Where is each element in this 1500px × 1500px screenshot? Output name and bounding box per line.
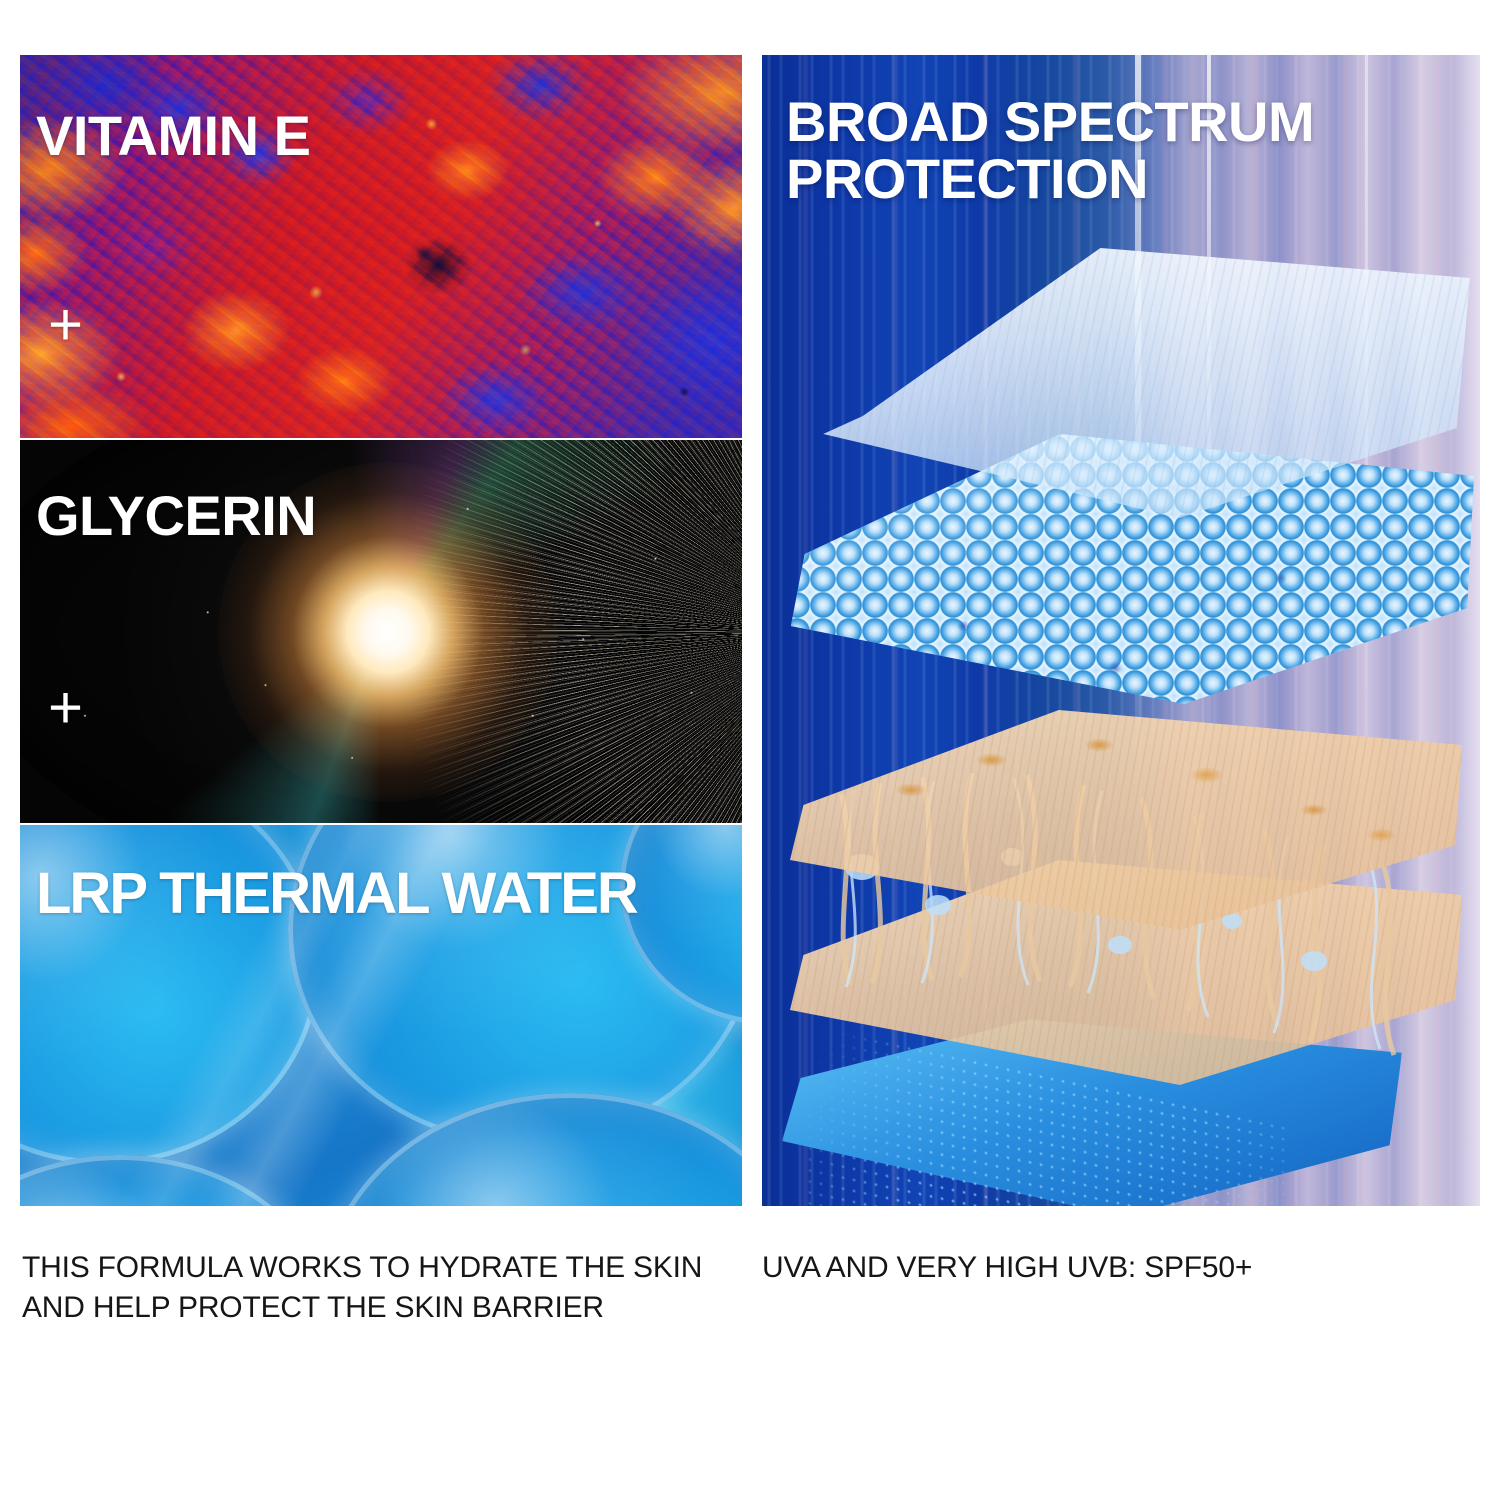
ingredient-title-glycerin: GLYCERIN <box>36 488 316 544</box>
formula-caption: THIS FORMULA WORKS TO HYDRATE THE SKIN A… <box>22 1248 722 1328</box>
plus-connector-icon: + <box>48 678 83 738</box>
protection-panel: BROAD SPECTRUM PROTECTION <box>762 55 1480 1206</box>
ingredient-panel-thermal-water: LRP THERMAL WATER <box>20 825 742 1206</box>
ingredient-panel-vitamin-e: VITAMIN E + <box>20 55 742 438</box>
product-feature-graphic: VITAMIN E + GLYCERIN + LRP THERMAL WATER <box>0 0 1500 1500</box>
ingredients-column: VITAMIN E + GLYCERIN + LRP THERMAL WATER <box>20 55 742 1206</box>
ingredient-panel-glycerin: GLYCERIN + <box>20 440 742 823</box>
plus-connector-icon: + <box>48 295 83 355</box>
ingredient-title-thermal-water: LRP THERMAL WATER <box>36 865 637 923</box>
protection-title: BROAD SPECTRUM PROTECTION <box>786 93 1480 207</box>
spf-caption: UVA AND VERY HIGH UVB: SPF50+ <box>762 1248 1462 1288</box>
ingredient-title-vitamin-e: VITAMIN E <box>36 108 310 164</box>
